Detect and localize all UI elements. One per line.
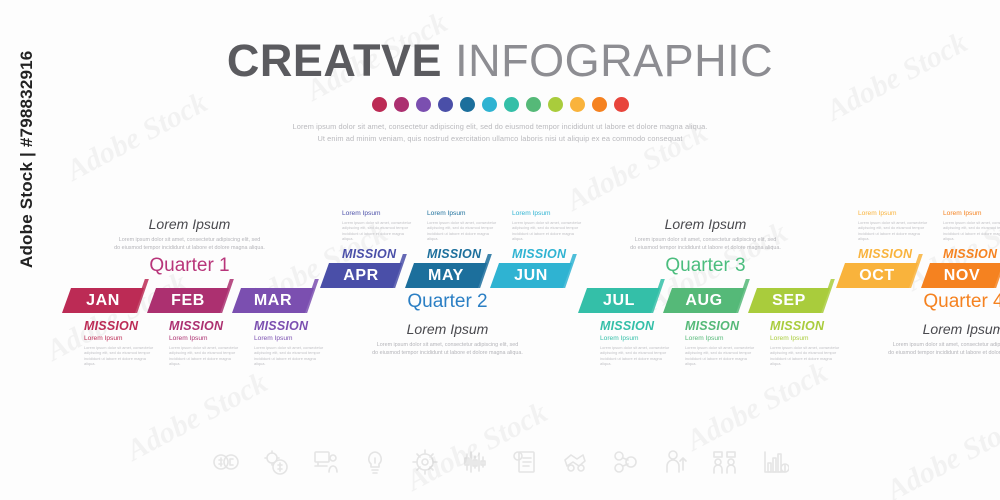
mission-body: Lorem ipsum dolor sit amet, consectetur … — [770, 345, 842, 367]
mission-heading: Lorem Ipsum — [342, 209, 414, 218]
quarter-title: Quarter 4 — [914, 291, 1000, 313]
team-podium-icon — [711, 448, 739, 476]
color-dot — [548, 97, 563, 112]
quarter-description-line1: Lorem ipsum dolor sit amet, consectetur … — [363, 341, 533, 349]
mission-block-feb: MISSIONLorem IpsumLorem ipsum dolor sit … — [169, 319, 241, 367]
month-ribbon-jun[interactable]: JUN — [490, 263, 572, 288]
mission-block-jul: MISSIONLorem IpsumLorem ipsum dolor sit … — [600, 319, 672, 367]
mission-title: MISSION — [427, 247, 499, 262]
month-label: OCT — [859, 267, 895, 285]
quarter-description-line2: do eiusmod tempor incididunt ut labore e… — [105, 244, 275, 252]
gear-dollar-icon — [261, 448, 289, 476]
mission-subtitle: Lorem Ipsum — [600, 334, 672, 343]
month-ribbon-apr[interactable]: APR — [320, 263, 402, 288]
mission-block-sep: MISSIONLorem IpsumLorem ipsum dolor sit … — [770, 319, 842, 367]
bar-chart-dollar-icon — [761, 448, 789, 476]
month-label: FEB — [171, 292, 205, 310]
color-dot — [438, 97, 453, 112]
color-dot — [460, 97, 475, 112]
month-label: NOV — [944, 267, 980, 285]
title-bold: CREATVE — [227, 35, 442, 86]
mission-title: MISSION — [858, 247, 930, 262]
month-label: AUG — [685, 292, 722, 310]
mission-body: Lorem ipsum dolor sit amet, consectetur … — [685, 345, 757, 367]
mission-heading: Lorem Ipsum — [512, 209, 584, 218]
quarter-heading: Lorem Ipsum — [661, 216, 751, 232]
mission-heading: Lorem Ipsum — [858, 209, 930, 218]
quarter-description-line2: do eiusmod tempor incididunt ut labore e… — [621, 244, 791, 252]
mission-title: MISSION — [84, 319, 156, 334]
quarter-description-line2: do eiusmod tempor incididunt ut labore e… — [363, 349, 533, 357]
color-dot-row — [0, 97, 1000, 112]
mission-body: Lorem ipsum dolor sit amet, consectetur … — [169, 345, 241, 367]
header-subtitle: Lorem ipsum dolor sit amet, consectetur … — [0, 121, 1000, 145]
mission-block-jun: Lorem IpsumLorem ipsum dolor sit amet, c… — [512, 209, 584, 262]
quarter-description-line1: Lorem ipsum dolor sit amet, consectetur … — [879, 341, 1000, 349]
mission-heading: Lorem Ipsum — [943, 209, 1000, 218]
month-ribbon-may[interactable]: MAY — [405, 263, 487, 288]
mission-title: MISSION — [685, 319, 757, 334]
color-dot — [482, 97, 497, 112]
network-people-icon — [611, 448, 639, 476]
mission-subtitle: Lorem Ipsum — [770, 334, 842, 343]
mission-subtitle: Lorem Ipsum — [685, 334, 757, 343]
color-dot — [614, 97, 629, 112]
lightbulb-idea-icon — [361, 448, 389, 476]
month-ribbon-jul[interactable]: JUL — [578, 288, 660, 313]
mission-block-mar: MISSIONLorem IpsumLorem ipsum dolor sit … — [254, 319, 326, 367]
watermark-tile: Adobe Stock — [681, 356, 833, 458]
header-subtitle-line2: Ut enim ad minim veniam, quis nostrud ex… — [0, 133, 1000, 145]
color-dot — [394, 97, 409, 112]
quarter-title: Quarter 1 — [140, 255, 240, 277]
mission-body: Lorem ipsum dolor sit amet, consectetur … — [84, 345, 156, 367]
quarter-description: Lorem ipsum dolor sit amet, consectetur … — [621, 236, 791, 252]
mission-title: MISSION — [943, 247, 1000, 262]
infographic-canvas: Adobe StockAdobe StockAdobe StockAdobe S… — [0, 0, 1000, 500]
mission-block-oct: Lorem IpsumLorem ipsum dolor sit amet, c… — [858, 209, 930, 262]
mission-heading-body: Lorem ipsum dolor sit amet, consectetur … — [342, 220, 414, 242]
month-ribbon-mar[interactable]: MAR — [232, 288, 314, 313]
month-label: MAR — [254, 292, 292, 310]
mission-title: MISSION — [512, 247, 584, 262]
mission-title: MISSION — [169, 319, 241, 334]
mission-heading-body: Lorem ipsum dolor sit amet, consectetur … — [943, 220, 1000, 242]
mission-block-may: Lorem IpsumLorem ipsum dolor sit amet, c… — [427, 209, 499, 262]
quarter-title: Quarter 2 — [398, 291, 498, 313]
page-title: CREATVE INFOGRAPHIC — [0, 36, 1000, 86]
mission-heading-body: Lorem ipsum dolor sit amet, consectetur … — [512, 220, 584, 242]
color-dot — [504, 97, 519, 112]
quarter-description-line1: Lorem ipsum dolor sit amet, consectetur … — [621, 236, 791, 244]
quarter-description: Lorem ipsum dolor sit amet, consectetur … — [105, 236, 275, 252]
mission-heading-body: Lorem ipsum dolor sit amet, consectetur … — [427, 220, 499, 242]
handshake-puzzle-icon — [561, 448, 589, 476]
quarter-description: Lorem ipsum dolor sit amet, consectetur … — [879, 341, 1000, 357]
footer-icon-row — [0, 448, 1000, 476]
month-label: APR — [343, 267, 379, 285]
mission-subtitle: Lorem Ipsum — [254, 334, 326, 343]
month-ribbon-oct[interactable]: OCT — [836, 263, 918, 288]
candlestick-chart-icon — [461, 448, 489, 476]
gear-document-icon — [511, 448, 539, 476]
mission-block-nov: Lorem IpsumLorem ipsum dolor sit amet, c… — [943, 209, 1000, 262]
mission-body: Lorem ipsum dolor sit amet, consectetur … — [254, 345, 326, 367]
quarter-title: Quarter 3 — [656, 255, 756, 277]
title-light: INFOGRAPHIC — [455, 35, 773, 86]
mission-heading-body: Lorem ipsum dolor sit amet, consectetur … — [858, 220, 930, 242]
quarter-heading: Lorem Ipsum — [919, 321, 1000, 337]
mission-heading: Lorem Ipsum — [427, 209, 499, 218]
quarter-heading: Lorem Ipsum — [403, 321, 493, 337]
month-label: SEP — [772, 292, 806, 310]
month-label: JUL — [603, 292, 635, 310]
month-ribbon-nov[interactable]: NOV — [921, 263, 1000, 288]
month-ribbon-aug[interactable]: AUG — [663, 288, 745, 313]
computer-presenter-icon — [311, 448, 339, 476]
color-dot — [526, 97, 541, 112]
header-subtitle-line1: Lorem ipsum dolor sit amet, consectetur … — [0, 121, 1000, 133]
month-ribbon-jan[interactable]: JAN — [62, 288, 144, 313]
gear-network-icon — [411, 448, 439, 476]
mission-subtitle: Lorem Ipsum — [169, 334, 241, 343]
month-label: JUN — [514, 267, 548, 285]
color-dot — [570, 97, 585, 112]
quarter-description: Lorem ipsum dolor sit amet, consectetur … — [363, 341, 533, 357]
mission-block-jan: MISSIONLorem IpsumLorem ipsum dolor sit … — [84, 319, 156, 367]
currency-exchange-icon — [211, 448, 239, 476]
header: CREATVE INFOGRAPHIC Lorem ipsum dolor si… — [0, 36, 1000, 145]
month-ribbon-feb[interactable]: FEB — [147, 288, 229, 313]
mission-subtitle: Lorem Ipsum — [84, 334, 156, 343]
month-label: JAN — [86, 292, 120, 310]
color-dot — [416, 97, 431, 112]
mission-title: MISSION — [254, 319, 326, 334]
color-dot — [592, 97, 607, 112]
month-label: MAY — [428, 267, 464, 285]
quarter-description-line2: do eiusmod tempor incididunt ut labore e… — [879, 349, 1000, 357]
mission-title: MISSION — [342, 247, 414, 262]
quarter-description-line1: Lorem ipsum dolor sit amet, consectetur … — [105, 236, 275, 244]
person-growth-icon — [661, 448, 689, 476]
mission-title: MISSION — [770, 319, 842, 334]
mission-block-apr: Lorem IpsumLorem ipsum dolor sit amet, c… — [342, 209, 414, 262]
mission-block-aug: MISSIONLorem IpsumLorem ipsum dolor sit … — [685, 319, 757, 367]
color-dot — [372, 97, 387, 112]
month-ribbon-sep[interactable]: SEP — [748, 288, 830, 313]
watermark-tile: Adobe Stock — [401, 396, 553, 498]
mission-body: Lorem ipsum dolor sit amet, consectetur … — [600, 345, 672, 367]
mission-title: MISSION — [600, 319, 672, 334]
quarter-heading: Lorem Ipsum — [145, 216, 235, 232]
